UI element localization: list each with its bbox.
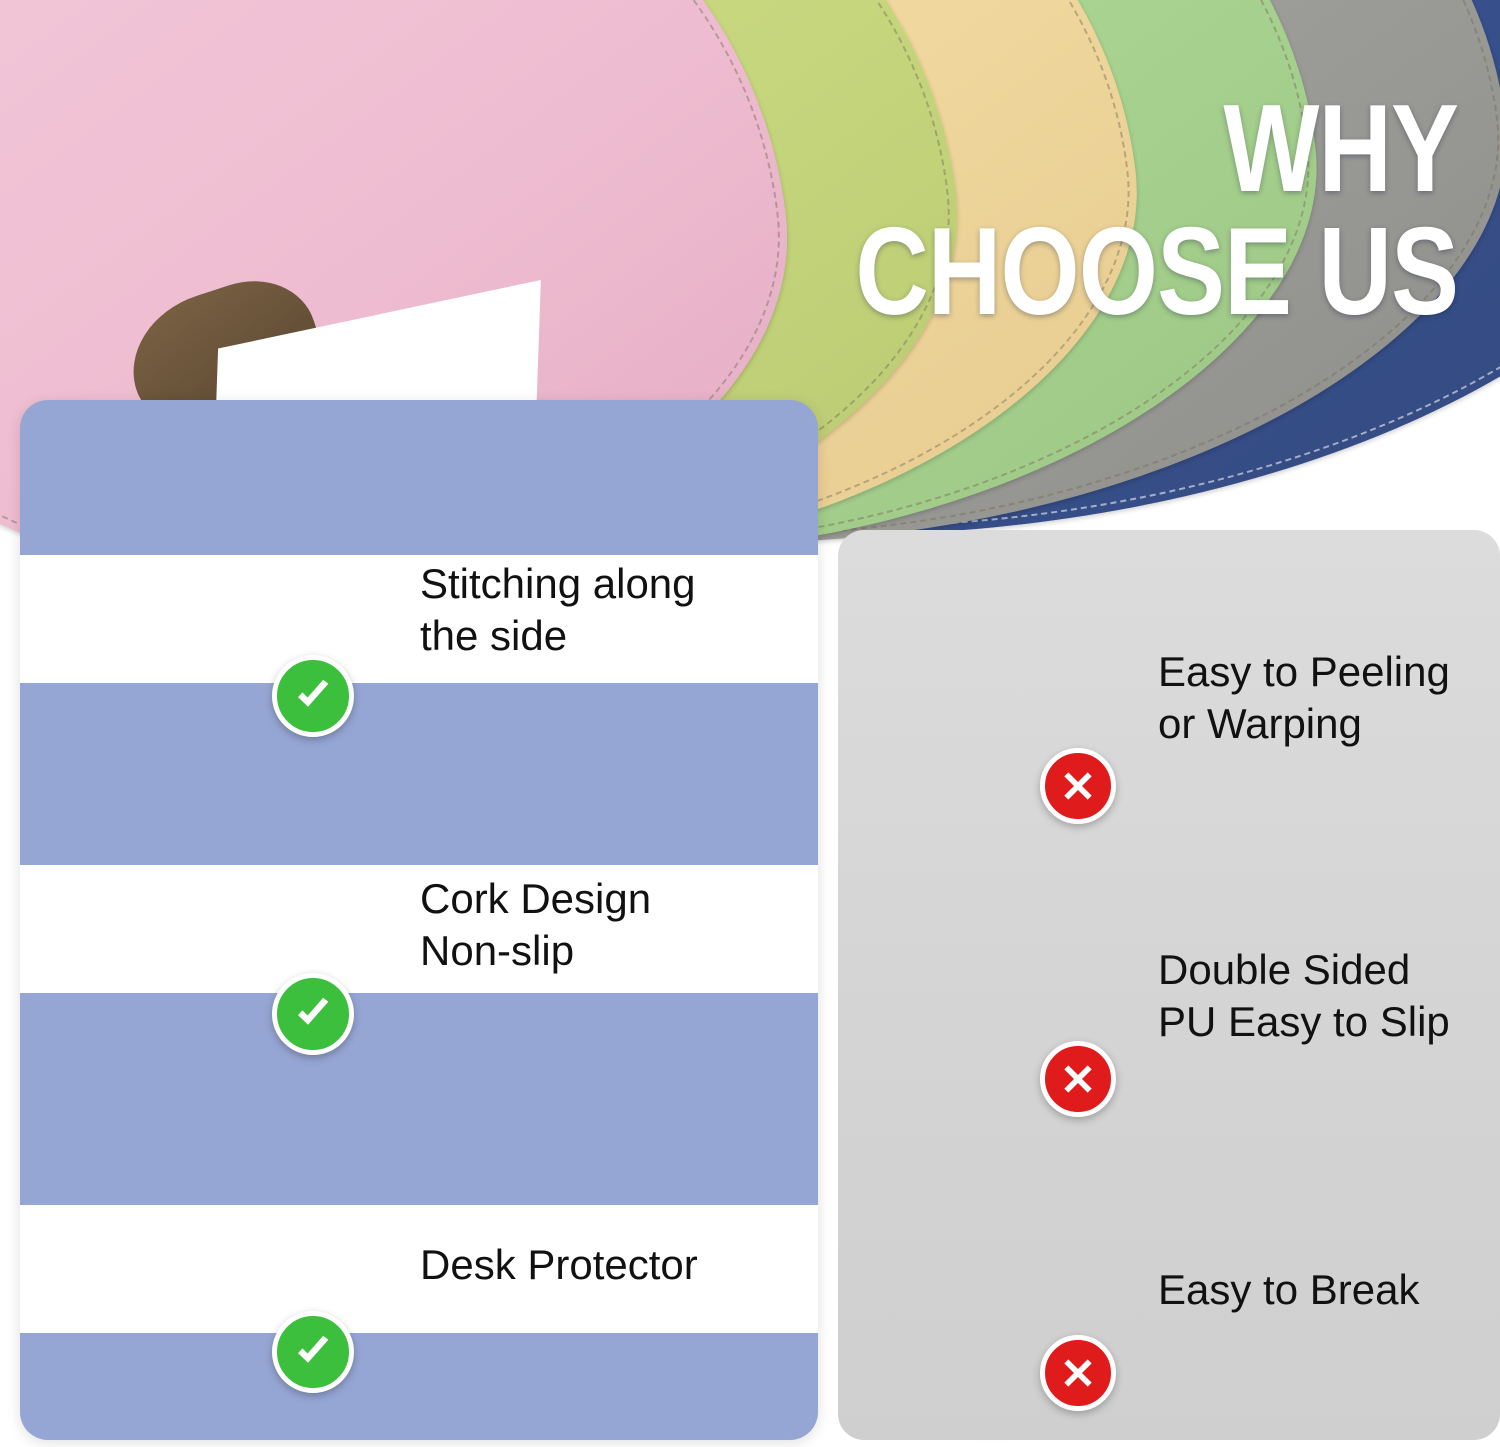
cons-list-item: Double Sided PU Easy to Slip [838, 846, 1500, 1146]
pros-list-item: Cork Design Non-slip [20, 775, 818, 1075]
cons-item-label: Double Sided PU Easy to Slip [1158, 944, 1450, 1049]
cons-list-item: Easy to Peeling or Warping [838, 548, 1500, 848]
check-icon [272, 655, 354, 737]
check-icon [272, 973, 354, 1055]
pros-item-label: Desk Protector [420, 1239, 698, 1292]
cons-item-label: Easy to Break [1158, 1264, 1419, 1317]
cons-panel: Easy to Peeling or Warping Double Sided … [838, 530, 1500, 1440]
pros-item-label: Stitching along the side [420, 558, 696, 663]
cons-list-item: Easy to Break [838, 1140, 1500, 1440]
pros-list-item: Desk Protector [20, 1115, 818, 1415]
pros-list-item: Stitching along the side [20, 460, 818, 760]
check-icon [272, 1311, 354, 1393]
cross-icon [1040, 748, 1116, 824]
cons-item-label: Easy to Peeling or Warping [1158, 646, 1450, 751]
headline-line-2: CHOOSE US [855, 218, 1458, 327]
pros-panel: Stitching along the side Cork Design Non… [20, 400, 818, 1440]
headline-line-1: WHY [855, 95, 1458, 204]
page-title: WHY CHOOSE US [723, 95, 1458, 327]
cross-icon [1040, 1041, 1116, 1117]
cross-icon [1040, 1335, 1116, 1411]
pros-item-label: Cork Design Non-slip [420, 873, 651, 978]
